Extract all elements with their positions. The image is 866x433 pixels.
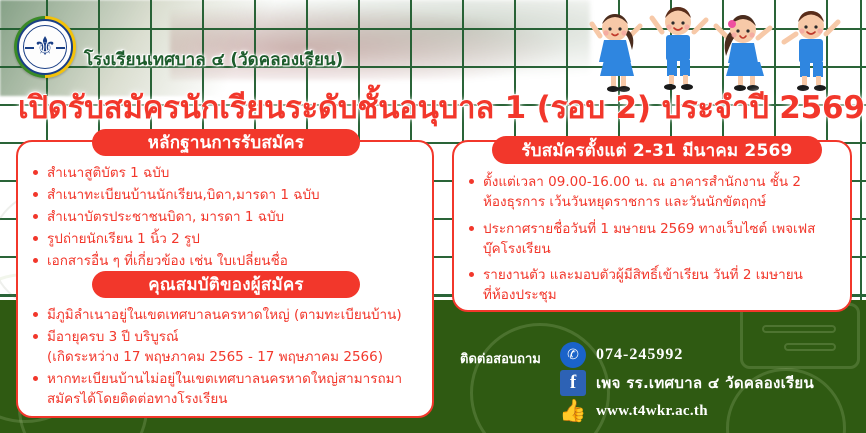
list-item-continuation: (เกิดระหว่าง 17 พฤษภาคม 2565 - 17 พฤษภาค… <box>30 347 430 368</box>
contact-label: ติดต่อสอบถาม <box>460 348 541 369</box>
list-item-continuation: ห้องธุรการ เว้นวันหยุดราชการ และวันนักขั… <box>466 192 844 213</box>
contact-section: ติดต่อสอบถาม ✆ 074-245992 f เพจ รร.เทศบา… <box>460 342 860 430</box>
list-item: เอกสารอื่น ๆ ที่เกี่ยวข้อง เช่น ใบเปลี่ย… <box>30 251 428 272</box>
thumbs-up-icon[interactable]: 👍 <box>560 398 586 424</box>
list-item-continuation: บุ๊คโรงเรียน <box>466 239 844 260</box>
list-item: มีภูมิลำเนาอยู่ในเขตเทศบาลนครหาดใหญ่ (ตา… <box>30 305 430 326</box>
list-item: รูปถ่ายนักเรียน 1 นิ้ว 2 รูป <box>30 229 428 250</box>
list-item: รายงานตัว และมอบตัวผู้มีสิทธิ์เข้าเรียน … <box>466 265 844 286</box>
student-3 <box>716 15 770 91</box>
school-seal-inner: ⚜ <box>17 19 73 75</box>
list-item-continuation: สมัครได้โดยติดต่อทางโรงเรียน <box>30 389 430 410</box>
list-item: สำเนาสูติบัตร 1 ฉบับ <box>30 163 428 184</box>
school-name: โรงเรียนเทศบาล ๔ (วัดคลองเรียน) <box>84 46 343 73</box>
student-2 <box>652 7 706 90</box>
list-item: ประกาศรายชื่อวันที่ 1 มษายน 2569 ทางเว็บ… <box>466 219 844 240</box>
phone-icon: ✆ <box>560 342 586 368</box>
website-url[interactable]: www.t4wkr.ac.th <box>596 403 708 420</box>
documents-list: สำเนาสูติบัตร 1 ฉบับ สำเนาทะเบียนบ้านนัก… <box>30 163 428 273</box>
page-title: เปิดรับสมัครนักเรียนระดับชั้นอนุบาล 1 (ร… <box>18 82 865 132</box>
student-4 <box>784 11 838 91</box>
contact-facebook-row[interactable]: f เพจ รร.เทศบาล ๔ วัดคลองเรียน <box>560 370 814 396</box>
list-item-continuation: ที่ห้องประชุม <box>466 285 844 306</box>
phone-number: 074-245992 <box>596 346 683 364</box>
seal-tick-left <box>25 47 34 49</box>
enrollment-poster: ⚜ โรงเรียนเทศบาล ๔ (วัดคลองเรียน) เปิดรั… <box>0 0 866 433</box>
list-item: ตั้งแต่เวลา 09.00-16.00 น. ณ อาคารสำนักง… <box>466 172 844 193</box>
four-jumping-students-illustration <box>570 2 860 94</box>
registration-dates-heading: รับสมัครตั้งแต่ 2-31 มีนาคม 2569 <box>492 136 822 164</box>
student-1 <box>592 14 640 92</box>
contact-website-row[interactable]: 👍 www.t4wkr.ac.th <box>560 398 708 424</box>
contact-phone-row: ✆ 074-245992 <box>560 342 683 368</box>
list-item: สำเนาบัตรประชาชนบิดา, มารดา 1 ฉบับ <box>30 207 428 228</box>
list-item: หากทะเบียนบ้านไม่อยู่ในเขตเทศบาลนครหาดให… <box>30 369 430 390</box>
qualifications-list: มีภูมิลำเนาอยู่ในเขตเทศบาลนครหาดใหญ่ (ตา… <box>30 305 430 411</box>
list-item: สำเนาทะเบียนบ้านนักเรียน,บิดา,มารดา 1 ฉบ… <box>30 185 428 206</box>
registration-details-list: ตั้งแต่เวลา 09.00-16.00 น. ณ อาคารสำนักง… <box>466 172 844 307</box>
documents-heading: หลักฐานการรับสมัคร <box>92 129 360 156</box>
facebook-icon[interactable]: f <box>560 370 586 396</box>
line-decoration-1 <box>762 325 836 333</box>
seal-tick-right <box>56 47 65 49</box>
facebook-page-name[interactable]: เพจ รร.เทศบาล ๔ วัดคลองเรียน <box>596 371 814 395</box>
list-item: มีอายุครบ 3 ปี บริบูรณ์ <box>30 327 430 348</box>
school-seal-logo: ⚜ <box>14 16 76 78</box>
qualifications-heading: คุณสมบัติของผู้สมัคร <box>92 271 360 298</box>
